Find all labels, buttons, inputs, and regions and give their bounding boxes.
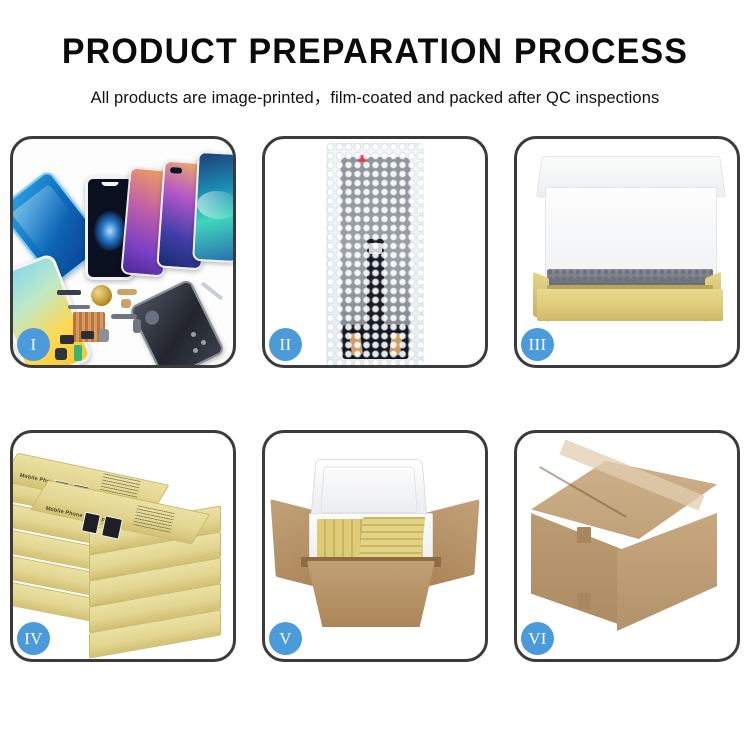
screw-part-1 (191, 332, 196, 337)
step-2-illustration (265, 139, 485, 365)
step-badge-5: V (269, 622, 302, 655)
page-header: PRODUCT PREPARATION PROCESS All products… (0, 0, 750, 108)
box-front-wall (537, 289, 723, 321)
speaker-part (81, 331, 94, 339)
bubble-texture (327, 143, 424, 365)
screw-part-3 (193, 348, 198, 353)
flex-cable-part-4 (111, 314, 137, 319)
step-3-illustration (517, 139, 737, 365)
carton-tab-lower (577, 593, 591, 609)
step-panel-6[interactable]: VI (514, 430, 740, 662)
step-panel-3[interactable]: III (514, 136, 740, 368)
page-title: PRODUCT PREPARATION PROCESS (11, 34, 739, 69)
carton-tab-upper (577, 527, 591, 543)
step-panel-1[interactable]: I (10, 136, 236, 368)
vibration-motor-part (91, 285, 112, 306)
flex-cable-part-1 (117, 289, 137, 295)
flex-cable-part-5 (133, 319, 141, 333)
carton-front-wall (307, 561, 435, 627)
step-badge-4: IV (17, 622, 50, 655)
step-badge-1: I (17, 328, 50, 361)
camera-module-part (60, 335, 74, 344)
bubble-wrap-bag (327, 143, 424, 365)
step-panel-4[interactable]: Mobile Phone Spare Parts Mobile Phone Sp… (10, 430, 236, 662)
sensor-part (74, 345, 82, 361)
step-6-illustration (517, 433, 737, 659)
step-1-illustration (13, 139, 233, 365)
process-step-grid: I II (10, 136, 740, 684)
taptic-engine-part (55, 348, 67, 360)
phone-screen-teal (192, 151, 233, 263)
tweezers-tool (201, 281, 224, 300)
step-4-illustration: Mobile Phone Spare Parts Mobile Phone Sp… (13, 433, 233, 659)
page-root: PRODUCT PREPARATION PROCESS All products… (0, 0, 750, 750)
step-badge-6: VI (521, 622, 554, 655)
step-5-illustration (265, 433, 485, 659)
step-badge-2: II (269, 328, 302, 361)
battery-connector-part (99, 329, 109, 342)
flex-cable-part-3 (68, 305, 90, 309)
page-subtitle: All products are image-printed，film-coat… (0, 84, 750, 108)
retail-boxes-inside-2 (359, 517, 425, 559)
flex-cable-part-2 (121, 299, 131, 308)
small-part-bar (57, 290, 81, 295)
step-badge-3: III (521, 328, 554, 361)
screw-part-2 (201, 340, 206, 345)
step-panel-5[interactable]: V (262, 430, 488, 662)
step-panel-2[interactable]: II (262, 136, 488, 368)
box-foam-back (545, 187, 717, 281)
